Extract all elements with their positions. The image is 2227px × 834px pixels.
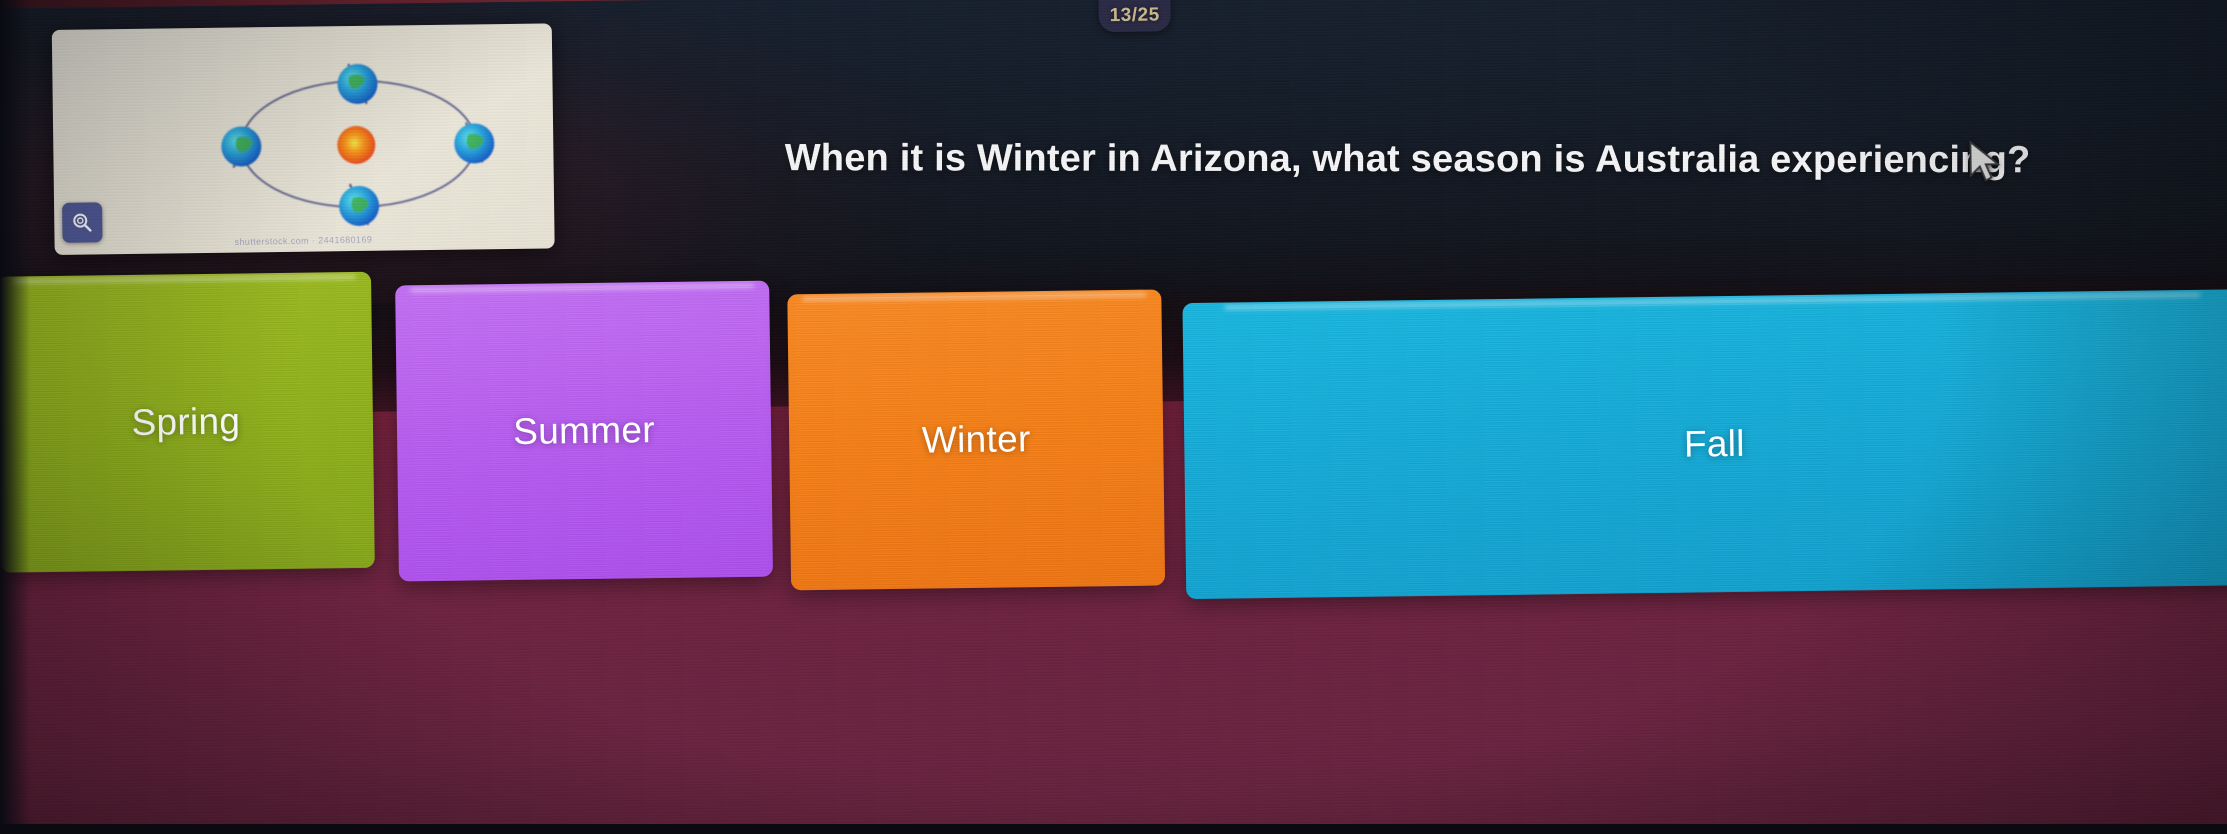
blue-helmet-character-avatar-icon — [0, 824, 51, 834]
answer-button-spring[interactable]: Spring — [0, 272, 375, 573]
question-counter-label: 13/25 — [1110, 4, 1160, 27]
player-footer: Triston — [0, 823, 140, 834]
quiz-screen: 13/25 — [0, 0, 2227, 834]
earth-orbit-seasons-diagram — [52, 23, 555, 255]
answer-label: Fall — [1684, 423, 1745, 466]
answer-options: Spring Summer Winter Fall — [0, 247, 2227, 597]
mouse-pointer-arrow-icon — [1965, 137, 2006, 190]
answer-button-summer[interactable]: Summer — [395, 281, 773, 582]
magnifier-icon — [70, 210, 94, 234]
answer-label: Spring — [131, 401, 240, 444]
question-text: When it is Winter in Arizona, what seaso… — [668, 137, 2148, 183]
answer-button-fall[interactable]: Fall — [1182, 289, 2227, 599]
avatar — [0, 824, 51, 834]
answer-button-winter[interactable]: Winter — [787, 289, 1165, 590]
answer-label: Summer — [513, 409, 655, 453]
photo-of-screen: 13/25 — [0, 0, 2227, 834]
answer-label: Winter — [922, 418, 1031, 461]
media-zoom-button[interactable] — [62, 202, 103, 243]
question-counter: 13/25 — [1098, 0, 1171, 32]
question-media-card[interactable]: shutterstock.com · 2441680169 — [52, 23, 555, 255]
